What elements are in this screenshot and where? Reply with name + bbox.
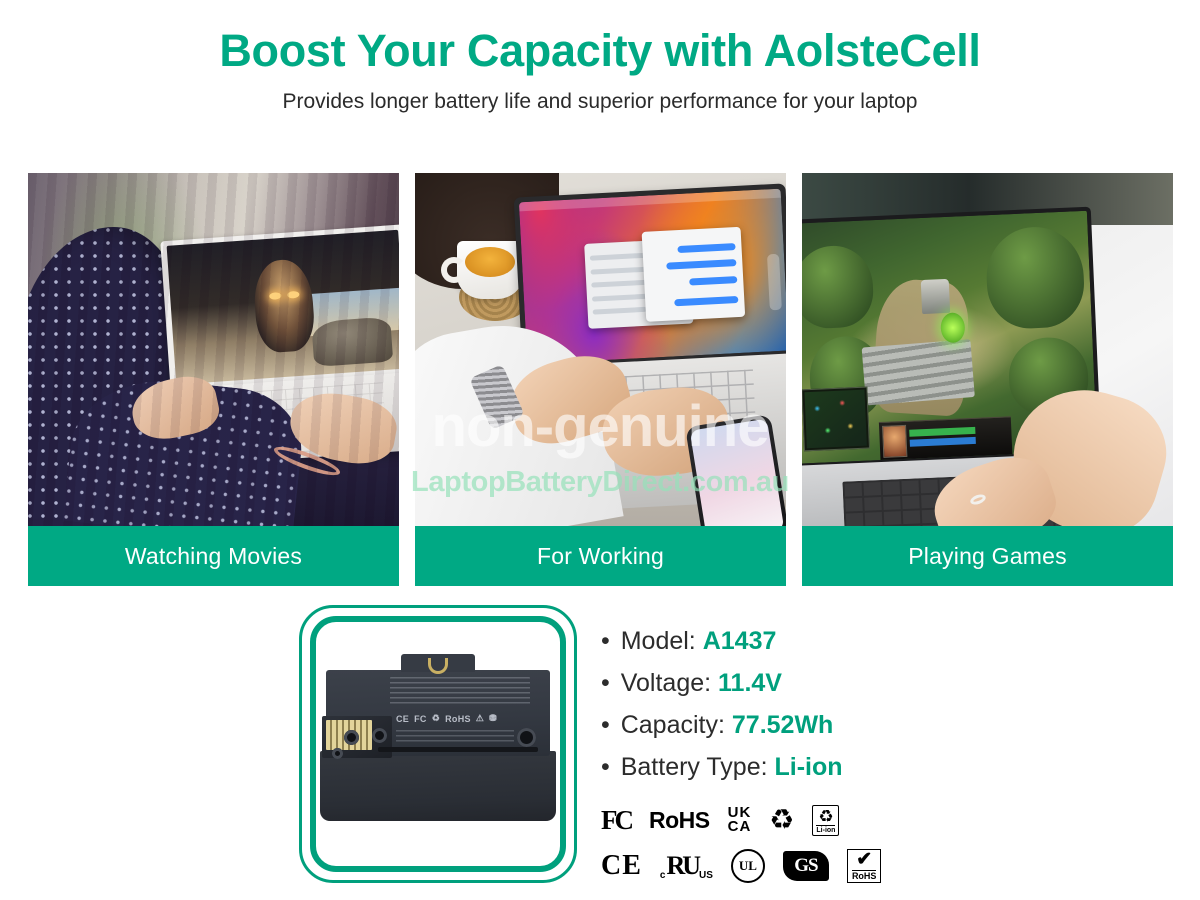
chat-bubble xyxy=(675,296,739,306)
product-detail-section: CE FC ♻ RoHS ⚠ ⛃ xyxy=(0,605,1200,895)
tree xyxy=(802,244,874,329)
spec-model: • Model: A1437 xyxy=(601,629,901,654)
product-image-frame: CE FC ♻ RoHS ⚠ ⛃ xyxy=(299,605,577,883)
page-title: Boost Your Capacity with AolsteCell xyxy=(0,26,1200,76)
dock xyxy=(767,254,782,311)
list-row xyxy=(591,280,652,288)
gs-icon: GS xyxy=(783,851,829,881)
recycle-glyph: ♻ xyxy=(818,808,833,825)
spec-value: Li-ion xyxy=(775,753,843,781)
white-laptop xyxy=(148,224,399,471)
battery-body-lower xyxy=(320,751,556,821)
spec-capacity: • Capacity: 77.52Wh xyxy=(601,713,901,738)
battery-model-text xyxy=(396,730,514,742)
right-hand xyxy=(285,386,399,469)
spec-value: A1437 xyxy=(703,627,777,655)
liion-label: Li-ion xyxy=(816,825,835,834)
tower xyxy=(921,279,950,314)
spec-label: Capacity: xyxy=(621,711,725,739)
photo-for-working xyxy=(415,173,786,526)
laptop-screen xyxy=(160,224,399,391)
left-hand xyxy=(127,371,223,446)
use-case-card-for-working: For Working xyxy=(415,173,786,586)
spec-battery-type: • Battery Type: Li-ion xyxy=(601,755,901,780)
fcc-mark-printed: FC xyxy=(414,714,427,724)
use-case-cards: Watching Movies xyxy=(28,173,1173,586)
card-caption: For Working xyxy=(415,526,786,586)
certification-badge-row-1: FC RoHS UKCA ♻ ♻ Li-ion xyxy=(601,797,901,843)
app-window-chat xyxy=(641,226,745,322)
list-row xyxy=(592,307,647,315)
lap-area xyxy=(145,384,399,526)
rohs-check-icon: ✔ RoHS xyxy=(847,849,882,882)
stone-steps xyxy=(862,339,975,405)
spec-voltage: • Voltage: 11.4V xyxy=(601,671,901,696)
cup-handle xyxy=(441,257,467,283)
keyboard xyxy=(173,382,385,439)
liion-recycle-icon: ♻ Li-ion xyxy=(812,805,839,836)
cul-mark: RU xyxy=(666,851,698,881)
spec-label: Battery Type: xyxy=(621,753,768,781)
tree xyxy=(985,225,1086,330)
cul-suffix: US xyxy=(699,870,713,881)
screw-hole xyxy=(344,730,359,745)
product-image-frame-inner: CE FC ♻ RoHS ⚠ ⛃ xyxy=(310,616,566,872)
chat-bubble xyxy=(678,243,736,253)
glowing-eye-right xyxy=(287,290,299,298)
cul-us-icon: c RU US xyxy=(660,851,713,881)
rohs-mark-printed: RoHS xyxy=(445,714,471,724)
movie-frame xyxy=(167,230,399,385)
spec-value: 77.52Wh xyxy=(732,711,833,739)
fcc-icon: FC xyxy=(601,805,631,836)
card-caption: Playing Games xyxy=(802,526,1173,586)
warning-mark-printed: ⚠ xyxy=(476,713,484,724)
movie-character xyxy=(251,258,315,354)
trackpad xyxy=(240,433,315,456)
cul-prefix: c xyxy=(660,870,666,881)
spec-label: Voltage: xyxy=(621,669,711,697)
bullet-icon: • xyxy=(601,753,610,781)
card-caption: Watching Movies xyxy=(28,526,399,586)
bullet-icon: • xyxy=(601,627,610,655)
chat-bubble xyxy=(667,259,737,270)
battery-warning-text xyxy=(390,677,530,705)
phone-screen xyxy=(690,419,785,526)
recycle-mark-printed: ♻ xyxy=(432,713,440,724)
screw-hole xyxy=(372,728,387,743)
certification-badges: FC RoHS UKCA ♻ ♻ Li-ion CE c RU xyxy=(601,797,901,889)
weee-mark-printed: ⛃ xyxy=(489,713,497,724)
ce-mark-printed: CE xyxy=(396,714,409,724)
ukca-line2: CA xyxy=(728,818,752,835)
person-silhouette xyxy=(28,227,184,526)
movie-sky xyxy=(282,288,399,338)
screw-hole xyxy=(332,748,343,759)
bullet-icon: • xyxy=(601,711,610,739)
specs-panel: • Model: A1437 • Voltage: 11.4V • Capaci… xyxy=(601,605,901,889)
photo-watching-movies xyxy=(28,173,399,526)
bracelet xyxy=(271,442,342,481)
recycle-icon: ♻ xyxy=(769,806,794,834)
spec-value: 11.4V xyxy=(718,669,782,697)
use-case-card-playing-games: Playing Games xyxy=(802,173,1173,586)
bullet-icon: • xyxy=(601,669,610,697)
use-case-card-watching-movies: Watching Movies xyxy=(28,173,399,586)
header: Boost Your Capacity with AolsteCell Prov… xyxy=(0,0,1200,114)
hero-portrait xyxy=(882,425,907,457)
laptop-base xyxy=(159,372,399,468)
photo-playing-games xyxy=(802,173,1173,526)
movie-terrain xyxy=(311,317,393,367)
battery-product-image: CE FC ♻ RoHS ⚠ ⛃ xyxy=(320,670,556,818)
ul-icon: UL xyxy=(731,849,765,883)
battery-cert-marks: CE FC ♻ RoHS ⚠ ⛃ xyxy=(396,712,528,725)
glowing-eye-left xyxy=(269,292,281,300)
sleeve-arm xyxy=(63,371,307,526)
ukca-icon: UKCA xyxy=(728,806,752,835)
spec-label: Model: xyxy=(621,627,696,655)
page-subtitle: Provides longer battery life and superio… xyxy=(0,90,1200,114)
chat-bubble xyxy=(689,276,737,285)
product-infographic: Boost Your Capacity with AolsteCell Prov… xyxy=(0,0,1200,900)
rohs-label: RoHS xyxy=(852,870,877,881)
screw-hole xyxy=(517,728,536,747)
smartphone xyxy=(685,414,786,526)
certification-badge-row-2: CE c RU US UL GS ✔ RoHS xyxy=(601,843,901,889)
battery-seam xyxy=(378,747,538,752)
desktop-wallpaper xyxy=(519,189,786,364)
minimap xyxy=(802,386,870,451)
checkmark-glyph: ✔ xyxy=(856,851,872,869)
rohs-icon: RoHS xyxy=(649,807,710,834)
ce-icon: CE xyxy=(601,850,642,882)
